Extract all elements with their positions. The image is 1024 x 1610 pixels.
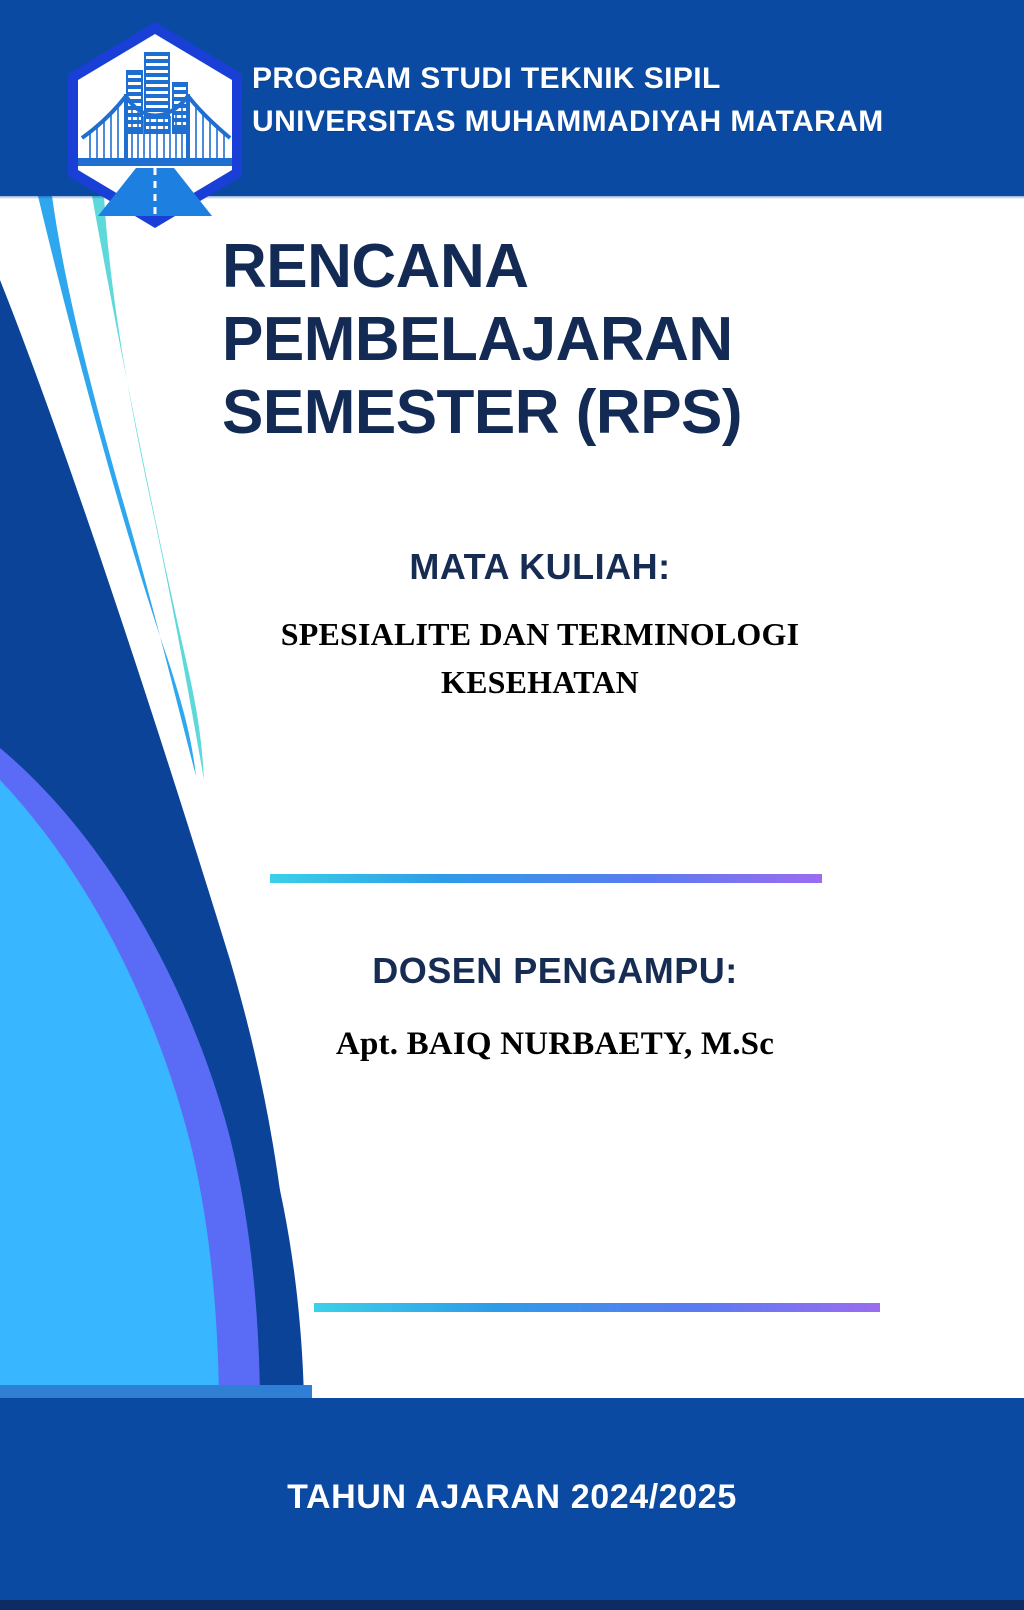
page-title-line-1: RENCANA: [222, 230, 862, 303]
page-title: RENCANA PEMBELAJARAN SEMESTER (RPS): [222, 230, 862, 449]
header-university-line: UNIVERSITAS MUHAMMADIYAH MATARAM: [252, 101, 884, 144]
header-title-group: PROGRAM STUDI TEKNIK SIPIL UNIVERSITAS M…: [252, 58, 884, 143]
course-name: SPESIALITE DAN TERMINOLOGI KESEHATAN: [200, 610, 880, 706]
header-program-line: PROGRAM STUDI TEKNIK SIPIL: [252, 58, 884, 101]
course-label: MATA KULIAH:: [200, 546, 880, 588]
lecturer-section: DOSEN PENGAMPU: Apt. BAIQ NURBAETY, M.Sc: [230, 950, 880, 1063]
university-bridge-hexagon-logo-icon: [62, 18, 248, 232]
course-name-line-1: SPESIALITE DAN TERMINOLOGI: [200, 610, 880, 658]
lecturer-label: DOSEN PENGAMPU:: [230, 950, 880, 992]
course-section: MATA KULIAH: SPESIALITE DAN TERMINOLOGI …: [200, 546, 880, 706]
wave-bottom-strip: [0, 1385, 312, 1398]
course-name-line-2: KESEHATAN: [200, 658, 880, 706]
academic-year: TAHUN AJARAN 2024/2025: [0, 1478, 1024, 1517]
gradient-divider-bottom: [314, 1303, 880, 1312]
page-title-line-2: PEMBELAJARAN: [222, 303, 862, 376]
gradient-divider-top: [270, 874, 822, 883]
page-title-line-3: SEMESTER (RPS): [222, 376, 862, 449]
cover-page: PROGRAM STUDI TEKNIK SIPIL UNIVERSITAS M…: [0, 0, 1024, 1610]
lecturer-name: Apt. BAIQ NURBAETY, M.Sc: [230, 1026, 880, 1063]
